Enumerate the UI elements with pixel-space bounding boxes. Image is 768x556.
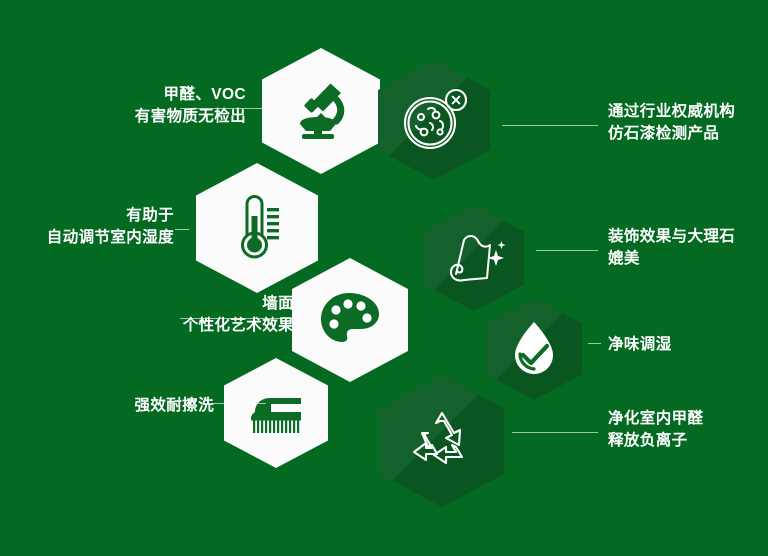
- hex-tile-microscope: [262, 48, 380, 174]
- feature-label-no-formaldehyde-voc: 甲醛、VOC 有害物质无检出: [135, 84, 246, 129]
- hex-tile-recycle: [380, 375, 504, 507]
- microscope-icon: [288, 80, 354, 142]
- connector-line-8: [512, 432, 598, 433]
- feature-label-odor-humidity-control: 净味调湿: [608, 334, 672, 356]
- thermometer-icon: [226, 192, 288, 264]
- feature-label-personalized-art-wall: 墙面 个性化艺术效果: [183, 293, 294, 338]
- connector-line-4: [536, 250, 598, 251]
- fabric-sparkle-icon: [442, 228, 506, 288]
- connector-line-7: [212, 403, 266, 404]
- hex-tile-water-drop: [486, 298, 582, 400]
- connector-line-2: [502, 125, 598, 126]
- hex-tile-thermometer: [196, 163, 318, 293]
- connector-line-5: [180, 318, 292, 319]
- hex-tile-palette: [292, 258, 408, 382]
- feature-label-purify-formaldehyde: 净化室内甲醛 释放负离子: [608, 408, 703, 453]
- scrub-brush-icon: [245, 388, 307, 438]
- hex-tile-brush: [224, 358, 328, 468]
- bacteria-blocked-icon: [397, 85, 471, 155]
- connector-line-3: [175, 229, 189, 230]
- feature-label-scrub-resistant: 强效耐擦洗: [134, 395, 214, 417]
- water-drop-check-icon: [507, 318, 561, 380]
- hex-tile-bacteria: [378, 60, 490, 180]
- feature-label-marble-like-decoration: 装饰效果与大理石 媲美: [608, 226, 735, 271]
- connector-line-6: [588, 343, 601, 344]
- hex-tile-fabric: [424, 205, 524, 311]
- palette-icon: [317, 289, 383, 351]
- connector-line-1: [180, 108, 262, 109]
- infographic-canvas: 甲醛、VOC 有害物质无检出 有助于 自动调节室内湿度 墙面 个性化艺术效果 强…: [0, 0, 768, 556]
- recycle-icon: [406, 407, 478, 475]
- feature-label-auto-humidity: 有助于 自动调节室内湿度: [47, 205, 174, 250]
- feature-label-authority-tested: 通过行业权威机构 仿石漆检测产品: [608, 101, 735, 146]
